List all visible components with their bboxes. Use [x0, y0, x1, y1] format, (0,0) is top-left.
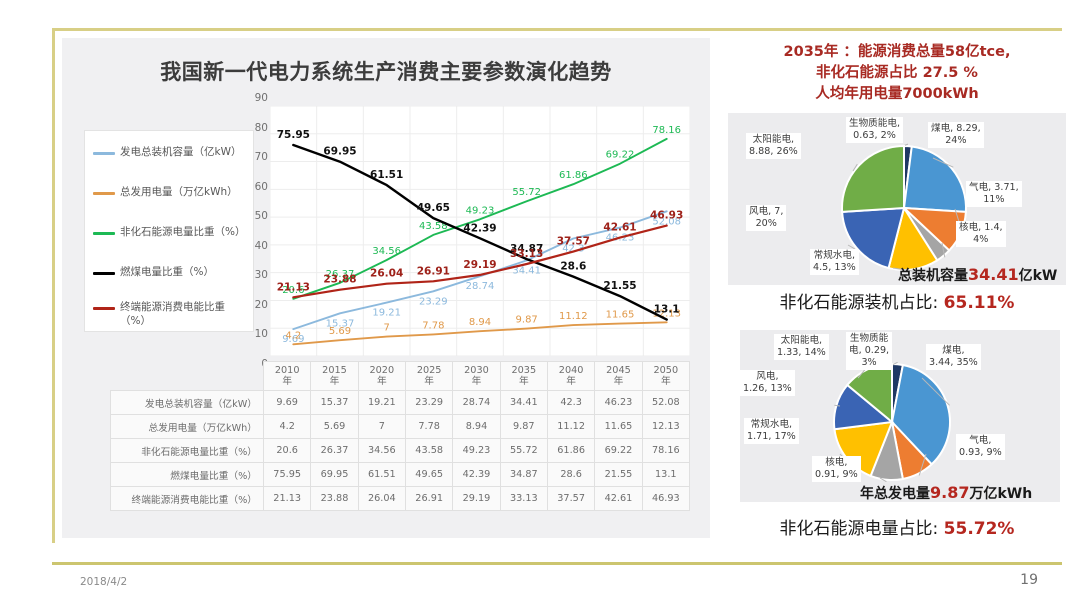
table-cell: 61.86: [547, 439, 594, 463]
table-cell: 26.91: [405, 487, 452, 511]
line-data-label: 78.16: [652, 125, 681, 136]
table-column-header: 2045年: [595, 362, 642, 391]
legend-swatch-icon: [93, 272, 115, 275]
table-cell: 7: [358, 415, 405, 439]
table-corner-cell: [111, 362, 264, 391]
table-cell: 46.23: [595, 391, 642, 415]
y-axis-tick: 40: [255, 240, 268, 252]
line-data-label: 42.61: [603, 222, 636, 234]
line-data-label: 4.2: [285, 330, 301, 341]
table-cell: 15.37: [311, 391, 358, 415]
table-cell: 52.08: [642, 391, 689, 415]
y-axis-tick: 10: [255, 328, 268, 340]
line-data-label: 23.29: [419, 296, 448, 307]
line-chart-panel: 我国新一代电力系统生产消费主要参数演化趋势 发电总装机容量（亿kW）总发用电量（…: [62, 38, 710, 538]
line-data-label: 37.57: [557, 236, 590, 248]
pie-slice-label: 常规水电,4.5, 13%: [810, 249, 859, 275]
slide-root: 我国新一代电力系统生产消费主要参数演化趋势 发电总装机容量（亿kW）总发用电量（…: [0, 0, 1080, 608]
table-cell: 69.22: [595, 439, 642, 463]
share-value: 65.11%: [944, 293, 1015, 313]
line-data-label: 26.04: [370, 268, 403, 280]
table-row-label: 非化石能源电量比重（%）: [111, 439, 264, 463]
legend-item-label: 非化石能源电量比重（%）: [120, 225, 248, 239]
y-axis-tick: 20: [255, 299, 268, 311]
pie-slice-label: 煤电,3.44, 35%: [926, 344, 981, 370]
line-data-label: 21.55: [603, 280, 636, 292]
table-cell: 46.93: [642, 487, 689, 511]
table-cell: 5.69: [311, 415, 358, 439]
legend-swatch-icon: [93, 152, 115, 155]
table-column-header: 2050年: [642, 362, 689, 391]
pie-slice-label: 气电, 3.71,11%: [966, 181, 1022, 207]
pie-chart-2-total: 年总发电量9.87万亿kWh: [860, 483, 1032, 503]
table-cell: 12.13: [642, 415, 689, 439]
line-data-label: 28.74: [466, 281, 495, 292]
table-cell: 11.12: [547, 415, 594, 439]
line-plot-area: 9.6915.3719.2123.2928.7434.4142.346.2352…: [270, 106, 690, 356]
headline-line: 2035年 ：能源消费总量58亿tce,: [722, 42, 1072, 63]
headline-callout: 2035年 ：能源消费总量58亿tce,非化石能源占比 27.5 %人均年用电量…: [722, 42, 1072, 105]
table-column-header: 2030年: [453, 362, 500, 391]
table-cell: 49.65: [405, 463, 452, 487]
table-cell: 21.13: [264, 487, 311, 511]
y-axis-tick: 70: [255, 151, 268, 163]
legend-swatch-icon: [93, 307, 115, 310]
table-cell: 26.37: [311, 439, 358, 463]
pie-slice[interactable]: [842, 146, 904, 212]
line-data-label: 55.72: [512, 187, 541, 198]
table-cell: 61.51: [358, 463, 405, 487]
table-row: 发电总装机容量（亿kW）9.6915.3719.2123.2928.7434.4…: [111, 391, 690, 415]
y-axis-tick: 90: [255, 92, 268, 104]
table-cell: 55.72: [500, 439, 547, 463]
legend-item-label: 总发用电量（万亿kWh）: [120, 185, 248, 199]
line-data-label: 7: [383, 323, 389, 334]
pie-total-value: 9.87: [930, 483, 969, 502]
table-cell: 34.56: [358, 439, 405, 463]
pie-slice-label: 风电, 7,20%: [746, 205, 786, 231]
table-column-header: 2015年: [311, 362, 358, 391]
table-cell: 4.2: [264, 415, 311, 439]
line-data-label: 19.21: [372, 308, 401, 319]
share-label: 非化石能源装机占比:: [780, 293, 944, 313]
pie-slice-label: 生物质能电,0.63, 2%: [846, 117, 903, 143]
legend-item[interactable]: 非化石能源电量比重（%）: [93, 225, 248, 239]
table-cell: 34.87: [500, 463, 547, 487]
legend-item[interactable]: 总发用电量（万亿kWh）: [93, 185, 248, 199]
line-data-label: 61.86: [559, 170, 588, 181]
line-data-label: 33.13: [510, 248, 543, 260]
line-data-label: 23.88: [323, 274, 356, 286]
table-row-label: 燃煤电量比重（%）: [111, 463, 264, 487]
pie-slice-label: 太阳能电,1.33, 14%: [774, 334, 829, 360]
share-label: 非化石能源电量占比:: [780, 519, 944, 539]
table-row-label: 终端能源消费电能比重（%）: [111, 487, 264, 511]
table-row-label: 发电总装机容量（亿kW）: [111, 391, 264, 415]
table-cell: 78.16: [642, 439, 689, 463]
line-data-label: 9.87: [516, 315, 538, 326]
footer-page-number: 19: [1020, 572, 1038, 588]
line-data-label: 49.23: [466, 205, 495, 216]
pie-slice-label: 气电,0.93, 9%: [956, 434, 1005, 460]
table-cell: 11.65: [595, 415, 642, 439]
pie-total-suffix: 万亿kWh: [969, 486, 1032, 502]
headline-line: 人均年用电量7000kWh: [722, 84, 1072, 105]
pie-total-suffix: 亿kW: [1019, 268, 1058, 284]
table-cell: 7.78: [405, 415, 452, 439]
line-data-label: 49.65: [417, 202, 450, 214]
y-axis-tick: 50: [255, 210, 268, 222]
pie-total-value: 34.41: [968, 265, 1019, 284]
pie-slice-label: 核电, 1.4,4%: [956, 221, 1006, 247]
line-data-label: 26.91: [417, 265, 450, 277]
table-cell: 42.61: [595, 487, 642, 511]
pie-slice-label: 风电,1.26, 13%: [740, 370, 795, 396]
line-data-label: 5.69: [329, 326, 351, 337]
table-column-header: 2025年: [405, 362, 452, 391]
legend-swatch-icon: [93, 192, 115, 195]
table-row: 终端能源消费电能比重（%）21.1323.8826.0426.9129.1933…: [111, 487, 690, 511]
line-data-label: 69.22: [606, 150, 635, 161]
legend-item[interactable]: 燃煤电量比重（%）: [93, 265, 248, 279]
table-cell: 42.3: [547, 391, 594, 415]
y-axis-tick: 80: [255, 122, 268, 134]
table-cell: 49.23: [453, 439, 500, 463]
legend-swatch-icon: [93, 232, 115, 235]
legend-item[interactable]: 发电总装机容量（亿kW）: [93, 145, 248, 159]
table-cell: 69.95: [311, 463, 358, 487]
pie-chart-2-panel: 生物质能电, 0.29,3%煤电,3.44, 35%气电,0.93, 9%核电,…: [740, 330, 1060, 502]
table-cell: 28.6: [547, 463, 594, 487]
y-axis: 9080706050403020100: [240, 98, 268, 364]
pie-slice-label: 生物质能电, 0.29,3%: [846, 332, 892, 370]
table-cell: 33.13: [500, 487, 547, 511]
gold-border-left: [52, 28, 55, 543]
table-cell: 21.55: [595, 463, 642, 487]
table-row: 燃煤电量比重（%）75.9569.9561.5149.6542.3934.872…: [111, 463, 690, 487]
table-row-label: 总发用电量（万亿kWh）: [111, 415, 264, 439]
table-column-header: 2010年: [264, 362, 311, 391]
line-data-label: 13.1: [654, 304, 680, 316]
table-cell: 34.41: [500, 391, 547, 415]
pie-chart-1-total: 总装机容量34.41亿kW: [898, 265, 1057, 285]
table-row: 总发用电量（万亿kWh）4.25.6977.788.949.8711.1211.…: [111, 415, 690, 439]
table-column-header: 2035年: [500, 362, 547, 391]
line-data-label: 46.93: [650, 210, 683, 222]
line-data-label: 69.95: [323, 146, 356, 158]
line-data-label: 11.65: [606, 310, 635, 321]
pie-total-prefix: 总装机容量: [898, 268, 968, 284]
table-row: 非化石能源电量比重（%）20.626.3734.5643.5849.2355.7…: [111, 439, 690, 463]
line-data-label: 42.39: [463, 222, 496, 234]
line-data-label: 11.12: [559, 311, 588, 322]
y-axis-tick: 30: [255, 269, 268, 281]
gold-border-top: [52, 28, 1062, 31]
table-cell: 28.74: [453, 391, 500, 415]
legend-item-label: 终端能源消费电能比重（%）: [120, 300, 248, 328]
table-cell: 13.1: [642, 463, 689, 487]
gold-border-bottom: [52, 562, 1062, 565]
pie-slice[interactable]: [904, 146, 966, 211]
pie-slice-label: 常规水电,1.71, 17%: [744, 418, 799, 444]
pie-slice-label: 核电,0.91, 9%: [812, 456, 861, 482]
table-cell: 9.69: [264, 391, 311, 415]
table-cell: 20.6: [264, 439, 311, 463]
line-data-label: 29.19: [463, 259, 496, 271]
line-data-label: 75.95: [277, 129, 310, 141]
table-cell: 43.58: [405, 439, 452, 463]
share-value: 55.72%: [944, 519, 1015, 539]
line-data-label: 21.13: [277, 281, 310, 293]
headline-line: 非化石能源占比 27.5 %: [722, 63, 1072, 84]
line-data-label: 61.51: [370, 169, 403, 181]
table-cell: 42.39: [453, 463, 500, 487]
line-chart-svg: 9.6915.3719.2123.2928.7434.4142.346.2352…: [270, 106, 690, 356]
pie-slice-label: 太阳能电,8.88, 26%: [746, 133, 801, 159]
pie-slice-label: 煤电, 8.29,24%: [928, 122, 984, 148]
table-cell: 8.94: [453, 415, 500, 439]
nonfossil-capacity-share: 非化石能源装机占比: 65.11%: [722, 288, 1072, 313]
table-cell: 23.29: [405, 391, 452, 415]
data-table: 2010年2015年2020年2025年2030年2035年2040年2045年…: [110, 361, 690, 511]
pie-chart-1-panel: 生物质能电,0.63, 2%煤电, 8.29,24%气电, 3.71,11%核电…: [728, 113, 1066, 285]
table-cell: 26.04: [358, 487, 405, 511]
nonfossil-energy-share: 非化石能源电量占比: 55.72%: [722, 514, 1072, 539]
table-cell: 75.95: [264, 463, 311, 487]
legend-item-label: 发电总装机容量（亿kW）: [120, 145, 248, 159]
table-cell: 9.87: [500, 415, 547, 439]
page-title: 我国新一代电力系统生产消费主要参数演化趋势: [62, 56, 710, 86]
legend-item[interactable]: 终端能源消费电能比重（%）: [93, 300, 248, 328]
pie-total-prefix: 年总发电量: [860, 486, 930, 502]
table-cell: 37.57: [547, 487, 594, 511]
line-data-label: 28.6: [560, 261, 586, 273]
table-column-header: 2040年: [547, 362, 594, 391]
y-axis-tick: 60: [255, 181, 268, 193]
footer-date: 2018/4/2: [80, 576, 127, 588]
legend-item-label: 燃煤电量比重（%）: [120, 265, 248, 279]
table-cell: 19.21: [358, 391, 405, 415]
line-data-label: 34.56: [372, 246, 401, 257]
chart-legend: 发电总装机容量（亿kW）总发用电量（万亿kWh）非化石能源电量比重（%）燃煤电量…: [84, 130, 254, 332]
table-cell: 23.88: [311, 487, 358, 511]
table-column-header: 2020年: [358, 362, 405, 391]
line-data-label: 7.78: [422, 320, 444, 331]
line-data-label: 8.94: [469, 317, 491, 328]
table-cell: 29.19: [453, 487, 500, 511]
